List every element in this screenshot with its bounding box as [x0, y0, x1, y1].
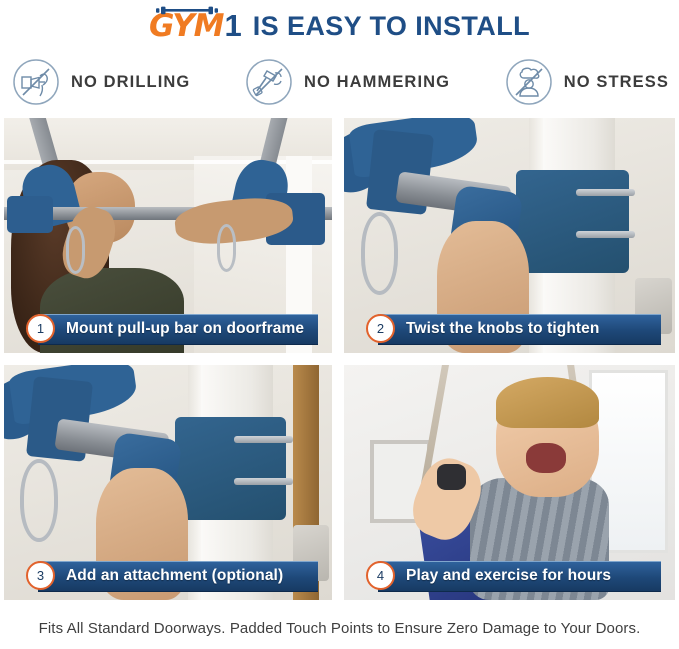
step-number-badge: 4 — [366, 561, 395, 590]
step-number-badge: 3 — [26, 561, 55, 590]
step-grid: 1 Mount pull-up bar on doorframe — [0, 114, 679, 608]
feature-row: NO DRILLING NO HAMMERING NO ST — [0, 48, 679, 114]
step-caption-text: Twist the knobs to tighten — [406, 320, 599, 338]
feature-no-drilling: NO DRILLING — [12, 58, 190, 106]
step-caption-3: 3 Add an attachment (optional) — [26, 561, 318, 590]
brand-one-text: 1 — [225, 8, 242, 43]
feature-no-stress: NO STRESS — [505, 58, 669, 106]
step-number-badge: 2 — [366, 314, 395, 343]
feature-label: NO DRILLING — [71, 73, 190, 92]
no-hammering-icon — [245, 58, 293, 106]
page-title: GYM1 IS EASY TO INSTALL — [0, 0, 679, 48]
step-photo-1: 1 Mount pull-up bar on doorframe — [4, 118, 332, 353]
step-cell-1: 1 Mount pull-up bar on doorframe — [0, 114, 340, 361]
step-photo-2: 2 Twist the knobs to tighten — [344, 118, 675, 353]
step-caption-text: Mount pull-up bar on doorframe — [66, 320, 304, 338]
headline-text: IS EASY TO INSTALL — [253, 11, 530, 42]
step-cell-2: 2 Twist the knobs to tighten — [340, 114, 679, 361]
step-cell-3: 3 Add an attachment (optional) — [0, 361, 340, 608]
install-infographic: GYM1 IS EASY TO INSTALL NO DRILLING — [0, 0, 679, 649]
no-drilling-icon — [12, 58, 60, 106]
feature-label: NO STRESS — [564, 73, 669, 92]
gym1-logo: GYM1 — [149, 10, 242, 42]
step-cell-4: 4 Play and exercise for hours — [340, 361, 679, 608]
no-stress-icon — [505, 58, 553, 106]
step-caption-text: Add an attachment (optional) — [66, 567, 283, 585]
feature-label: NO HAMMERING — [304, 73, 450, 92]
feature-no-hammering: NO HAMMERING — [245, 58, 450, 106]
barbell-icon — [155, 6, 219, 15]
step-caption-1: 1 Mount pull-up bar on doorframe — [26, 314, 318, 343]
step-caption-2: 2 Twist the knobs to tighten — [366, 314, 661, 343]
step-caption-text: Play and exercise for hours — [406, 567, 611, 585]
step-photo-3: 3 Add an attachment (optional) — [4, 365, 332, 600]
footer-note: Fits All Standard Doorways. Padded Touch… — [0, 608, 679, 649]
step-number-badge: 1 — [26, 314, 55, 343]
step-photo-4: 4 Play and exercise for hours — [344, 365, 675, 600]
footer-text: Fits All Standard Doorways. Padded Touch… — [39, 620, 641, 637]
step-caption-4: 4 Play and exercise for hours — [366, 561, 661, 590]
